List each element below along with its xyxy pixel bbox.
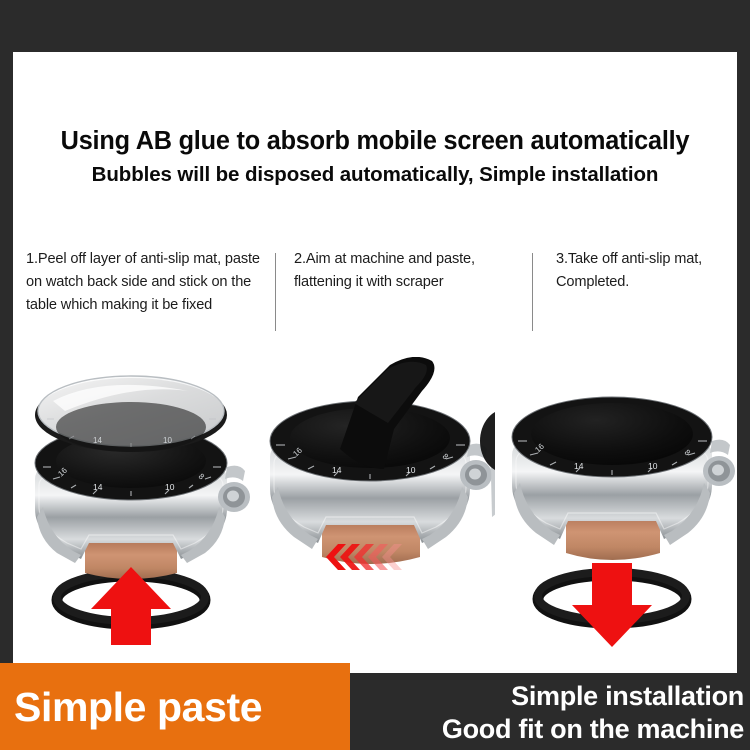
steps-text-row: 1.Peel off layer of anti-slip mat, paste… xyxy=(13,248,737,358)
svg-text:14: 14 xyxy=(93,436,102,445)
step-1-text: 1.Peel off layer of anti-slip mat, paste… xyxy=(26,248,276,317)
step-2-text: 2.Aim at machine and paste, flattening i… xyxy=(294,248,534,294)
dark-banner-line-1: Simple installation xyxy=(511,680,750,712)
svg-text:10: 10 xyxy=(163,436,172,445)
watch-strap xyxy=(566,517,660,560)
header-block: Using AB glue to absorb mobile screen au… xyxy=(13,128,737,185)
column-divider-1 xyxy=(275,253,276,331)
column-divider-2 xyxy=(532,253,533,331)
svg-text:10: 10 xyxy=(406,465,416,475)
infographic-root: Using AB glue to absorb mobile screen au… xyxy=(0,0,750,750)
dark-banner: Simple installation Good fit on the mach… xyxy=(352,675,750,750)
illustration-step-3: 16 14 10 8 xyxy=(500,357,737,673)
page-title: Using AB glue to absorb mobile screen au… xyxy=(17,128,734,155)
dark-banner-line-2: Good fit on the machine xyxy=(442,713,750,745)
illustration-row: 16 14 10 8 xyxy=(13,357,737,673)
svg-text:14: 14 xyxy=(574,461,584,471)
svg-text:14: 14 xyxy=(93,482,103,492)
illustration-step-2: 16 14 10 8 xyxy=(254,357,495,673)
content-panel: Using AB glue to absorb mobile screen au… xyxy=(13,52,737,673)
illustration-step-1: 16 14 10 8 xyxy=(13,357,254,673)
svg-text:10: 10 xyxy=(165,482,175,492)
svg-text:10: 10 xyxy=(648,461,658,471)
page-subtitle: Bubbles will be disposed automatically, … xyxy=(13,164,737,186)
watch-bezel: 16 14 10 8 xyxy=(512,397,712,477)
step-3-text: 3.Take off anti-slip mat, Completed. xyxy=(556,248,737,294)
svg-text:14: 14 xyxy=(332,465,342,475)
screen-protector: 14 10 xyxy=(35,376,227,452)
orange-banner: Simple paste xyxy=(0,663,350,750)
orange-banner-text: Simple paste xyxy=(0,687,262,728)
